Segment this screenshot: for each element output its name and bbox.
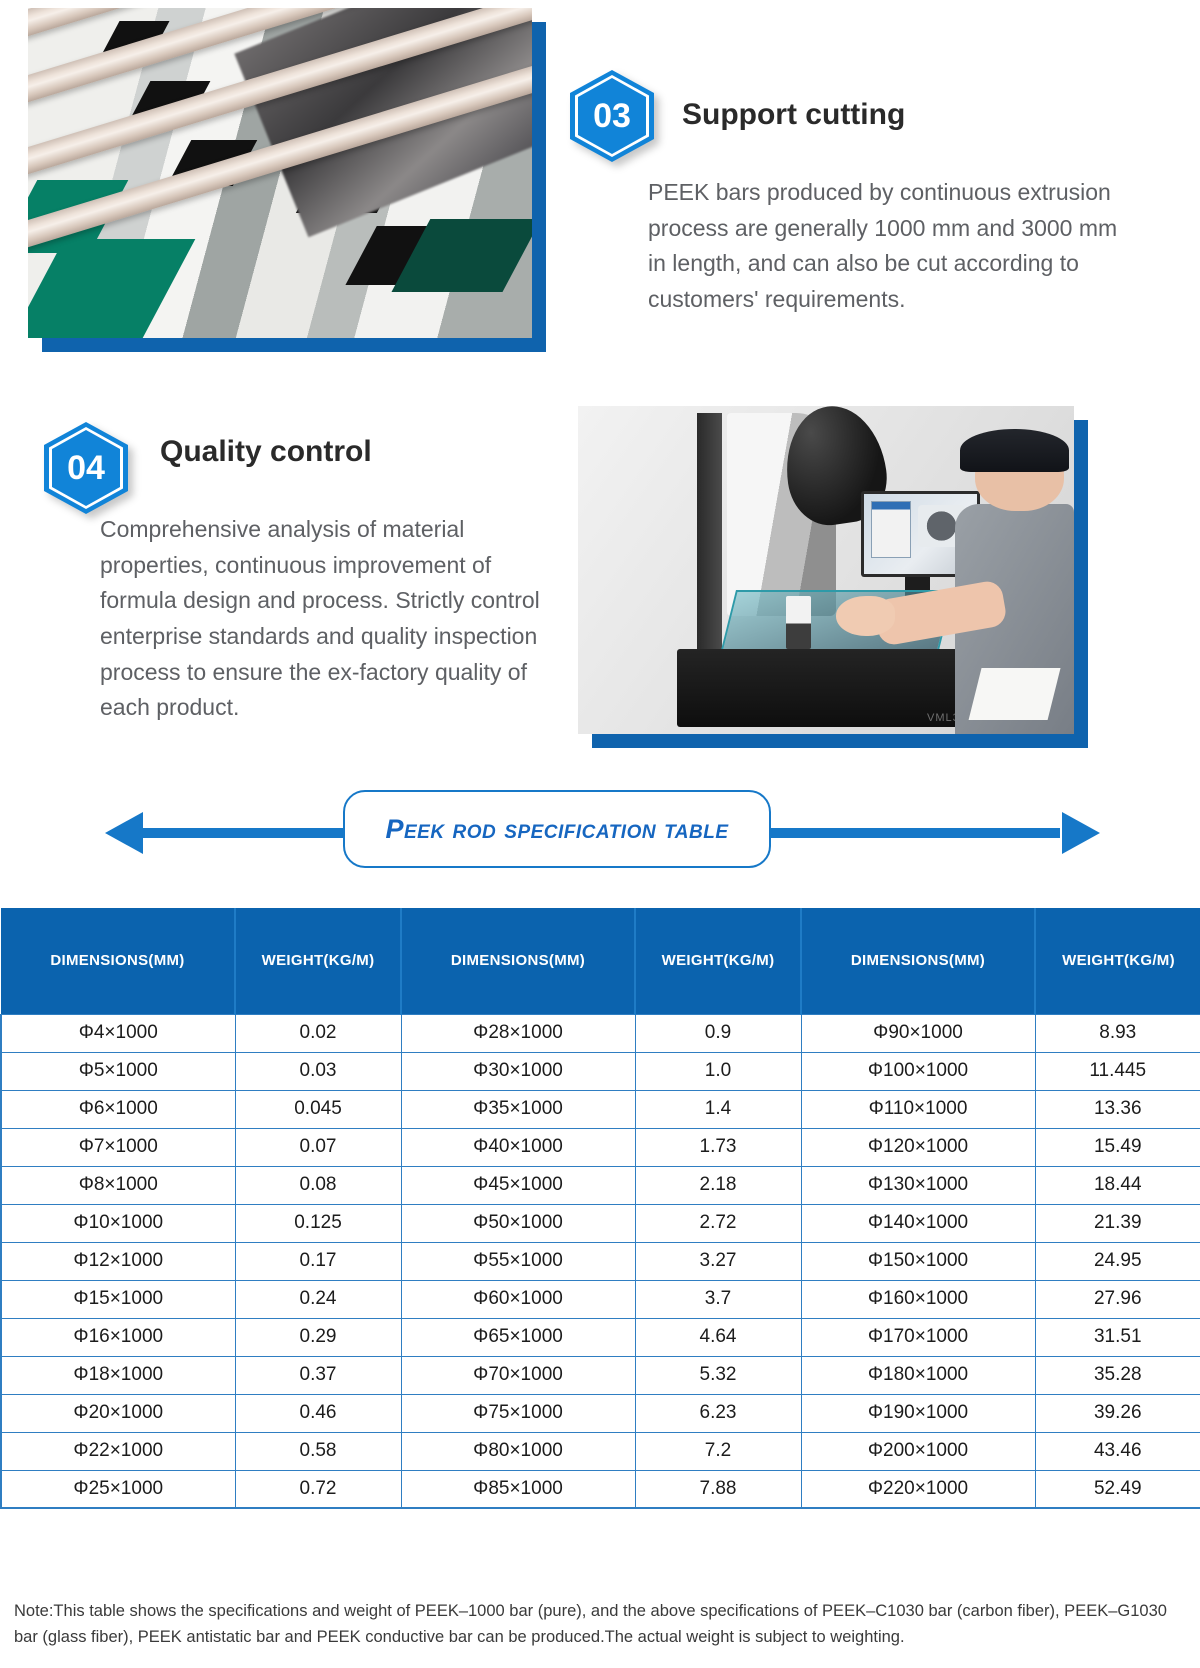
cell-dimension: Φ140×1000: [801, 1204, 1035, 1242]
cell-dimension: Φ120×1000: [801, 1128, 1035, 1166]
cell-weight: 24.95: [1035, 1242, 1200, 1280]
cell-weight: 1.0: [635, 1052, 801, 1090]
step-badge-03: 03: [570, 70, 654, 162]
step-number-03: 03: [593, 97, 631, 136]
table-header: DIMENSIONS(MM) WEIGHT(KG/M) DIMENSIONS(M…: [1, 908, 1200, 1014]
cell-dimension: Φ80×1000: [401, 1432, 635, 1470]
cell-dimension: Φ4×1000: [1, 1014, 235, 1052]
cell-dimension: Φ5×1000: [1, 1052, 235, 1090]
spec-table-wrapper: DIMENSIONS(MM) WEIGHT(KG/M) DIMENSIONS(M…: [0, 908, 1200, 1509]
step-body-04: Comprehensive analysis of material prope…: [100, 512, 570, 726]
column-header-dimensions-3: DIMENSIONS(MM): [801, 908, 1035, 1014]
cell-weight: 0.58: [235, 1432, 401, 1470]
column-header-dimensions-2: DIMENSIONS(MM): [401, 908, 635, 1014]
table-note: Note:This table shows the specifications…: [14, 1598, 1190, 1651]
cell-weight: 18.44: [1035, 1166, 1200, 1204]
section-support-cutting: 03 Support cutting PEEK bars produced by…: [0, 0, 1200, 380]
cell-dimension: Φ20×1000: [1, 1394, 235, 1432]
photo-peek-bars-image: [28, 8, 532, 338]
cell-weight: 0.07: [235, 1128, 401, 1166]
table-row: Φ6×10000.045Φ35×10001.4Φ110×100013.36: [1, 1090, 1200, 1128]
table-row: Φ12×10000.17Φ55×10003.27Φ150×100024.95: [1, 1242, 1200, 1280]
cell-dimension: Φ50×1000: [401, 1204, 635, 1242]
cell-weight: 0.37: [235, 1356, 401, 1394]
cell-weight: 0.46: [235, 1394, 401, 1432]
cell-weight: 0.29: [235, 1318, 401, 1356]
cell-dimension: Φ160×1000: [801, 1280, 1035, 1318]
cell-weight: 3.7: [635, 1280, 801, 1318]
cell-weight: 0.03: [235, 1052, 401, 1090]
cell-dimension: Φ180×1000: [801, 1356, 1035, 1394]
product-spec-page: 03 Support cutting PEEK bars produced by…: [0, 0, 1200, 1668]
cell-dimension: Φ35×1000: [401, 1090, 635, 1128]
cell-weight: 31.51: [1035, 1318, 1200, 1356]
cell-weight: 6.23: [635, 1394, 801, 1432]
cell-weight: 52.49: [1035, 1470, 1200, 1508]
cell-dimension: Φ28×1000: [401, 1014, 635, 1052]
cell-weight: 13.36: [1035, 1090, 1200, 1128]
cell-weight: 0.02: [235, 1014, 401, 1052]
cell-weight: 0.72: [235, 1470, 401, 1508]
cell-weight: 2.72: [635, 1204, 801, 1242]
cell-dimension: Φ45×1000: [401, 1166, 635, 1204]
cell-dimension: Φ15×1000: [1, 1280, 235, 1318]
arrow-right-icon: [1062, 812, 1100, 854]
table-row: Φ8×10000.08Φ45×10002.18Φ130×100018.44: [1, 1166, 1200, 1204]
cell-weight: 5.32: [635, 1356, 801, 1394]
cell-dimension: Φ30×1000: [401, 1052, 635, 1090]
cell-dimension: Φ85×1000: [401, 1470, 635, 1508]
cell-dimension: Φ12×1000: [1, 1242, 235, 1280]
cell-weight: 0.125: [235, 1204, 401, 1242]
cell-dimension: Φ130×1000: [801, 1166, 1035, 1204]
machine-post: [697, 413, 722, 649]
cell-dimension: Φ220×1000: [801, 1470, 1035, 1508]
banner-title: Peek rod specification table: [385, 814, 728, 845]
step-badge-04: 04: [44, 422, 128, 514]
cell-dimension: Φ65×1000: [401, 1318, 635, 1356]
cell-dimension: Φ22×1000: [1, 1432, 235, 1470]
table-row: Φ7×10000.07Φ40×10001.73Φ120×100015.49: [1, 1128, 1200, 1166]
cell-weight: 11.445: [1035, 1052, 1200, 1090]
table-row: Φ10×10000.125Φ50×10002.72Φ140×100021.39: [1, 1204, 1200, 1242]
cell-weight: 0.08: [235, 1166, 401, 1204]
cell-dimension: Φ200×1000: [801, 1432, 1035, 1470]
cell-dimension: Φ8×1000: [1, 1166, 235, 1204]
spec-table-banner: Peek rod specification table: [0, 780, 1200, 880]
column-header-weight-2: WEIGHT(KG/M): [635, 908, 801, 1014]
peek-rod-spec-table: DIMENSIONS(MM) WEIGHT(KG/M) DIMENSIONS(M…: [0, 908, 1200, 1509]
cell-weight: 1.73: [635, 1128, 801, 1166]
cell-dimension: Φ7×1000: [1, 1128, 235, 1166]
table-body: Φ4×10000.02Φ28×10000.9Φ90×10008.93Φ5×100…: [1, 1014, 1200, 1508]
cell-weight: 0.045: [235, 1090, 401, 1128]
cell-dimension: Φ110×1000: [801, 1090, 1035, 1128]
column-header-dimensions-1: DIMENSIONS(MM): [1, 908, 235, 1014]
banner-pill: Peek rod specification table: [343, 790, 771, 868]
cell-dimension: Φ16×1000: [1, 1318, 235, 1356]
cell-weight: 2.18: [635, 1166, 801, 1204]
cell-weight: 15.49: [1035, 1128, 1200, 1166]
cell-dimension: Φ100×1000: [801, 1052, 1035, 1090]
cell-weight: 0.9: [635, 1014, 801, 1052]
cell-dimension: Φ10×1000: [1, 1204, 235, 1242]
cell-weight: 8.93: [1035, 1014, 1200, 1052]
table-row: Φ18×10000.37Φ70×10005.32Φ180×100035.28: [1, 1356, 1200, 1394]
cell-dimension: Φ60×1000: [401, 1280, 635, 1318]
cell-dimension: Φ25×1000: [1, 1470, 235, 1508]
step-title-04: Quality control: [160, 435, 372, 469]
sample-part: [786, 596, 811, 648]
cell-dimension: Φ150×1000: [801, 1242, 1035, 1280]
column-header-weight-1: WEIGHT(KG/M): [235, 908, 401, 1014]
operator-hand: [836, 596, 896, 635]
cell-weight: 35.28: [1035, 1356, 1200, 1394]
table-row: Φ16×10000.29Φ65×10004.64Φ170×100031.51: [1, 1318, 1200, 1356]
column-header-weight-3: WEIGHT(KG/M): [1035, 908, 1200, 1014]
cell-weight: 1.4: [635, 1090, 801, 1128]
cell-dimension: Φ170×1000: [801, 1318, 1035, 1356]
table-row: Φ5×10000.03Φ30×10001.0Φ100×100011.445: [1, 1052, 1200, 1090]
table-row: Φ20×10000.46Φ75×10006.23Φ190×100039.26: [1, 1394, 1200, 1432]
cell-weight: 21.39: [1035, 1204, 1200, 1242]
cell-dimension: Φ40×1000: [401, 1128, 635, 1166]
cell-weight: 0.17: [235, 1242, 401, 1280]
table-row: Φ25×10000.72Φ85×10007.88Φ220×100052.49: [1, 1470, 1200, 1508]
cell-dimension: Φ75×1000: [401, 1394, 635, 1432]
photo-quality-control-image: VML300: [578, 406, 1074, 734]
step-body-03: PEEK bars produced by continuous extrusi…: [648, 175, 1118, 318]
inspection-paper: [968, 668, 1060, 720]
cell-weight: 4.64: [635, 1318, 801, 1356]
cell-weight: 3.27: [635, 1242, 801, 1280]
table-row: Φ15×10000.24Φ60×10003.7Φ160×100027.96: [1, 1280, 1200, 1318]
cell-dimension: Φ190×1000: [801, 1394, 1035, 1432]
cell-weight: 27.96: [1035, 1280, 1200, 1318]
photo-peek-bars: [28, 8, 532, 338]
cell-dimension: Φ55×1000: [401, 1242, 635, 1280]
cell-dimension: Φ6×1000: [1, 1090, 235, 1128]
step-number-04: 04: [67, 449, 105, 488]
step-title-03: Support cutting: [682, 98, 905, 132]
table-header-row: DIMENSIONS(MM) WEIGHT(KG/M) DIMENSIONS(M…: [1, 908, 1200, 1014]
operator-cap: [960, 429, 1069, 472]
arrow-left-icon: [105, 812, 143, 854]
table-row: Φ4×10000.02Φ28×10000.9Φ90×10008.93: [1, 1014, 1200, 1052]
cell-dimension: Φ70×1000: [401, 1356, 635, 1394]
cell-dimension: Φ18×1000: [1, 1356, 235, 1394]
table-row: Φ22×10000.58Φ80×10007.2Φ200×100043.46: [1, 1432, 1200, 1470]
cell-weight: 7.2: [635, 1432, 801, 1470]
cell-weight: 7.88: [635, 1470, 801, 1508]
cell-weight: 43.46: [1035, 1432, 1200, 1470]
cell-dimension: Φ90×1000: [801, 1014, 1035, 1052]
photo-quality-control: VML300: [578, 406, 1074, 734]
cell-weight: 39.26: [1035, 1394, 1200, 1432]
cell-weight: 0.24: [235, 1280, 401, 1318]
